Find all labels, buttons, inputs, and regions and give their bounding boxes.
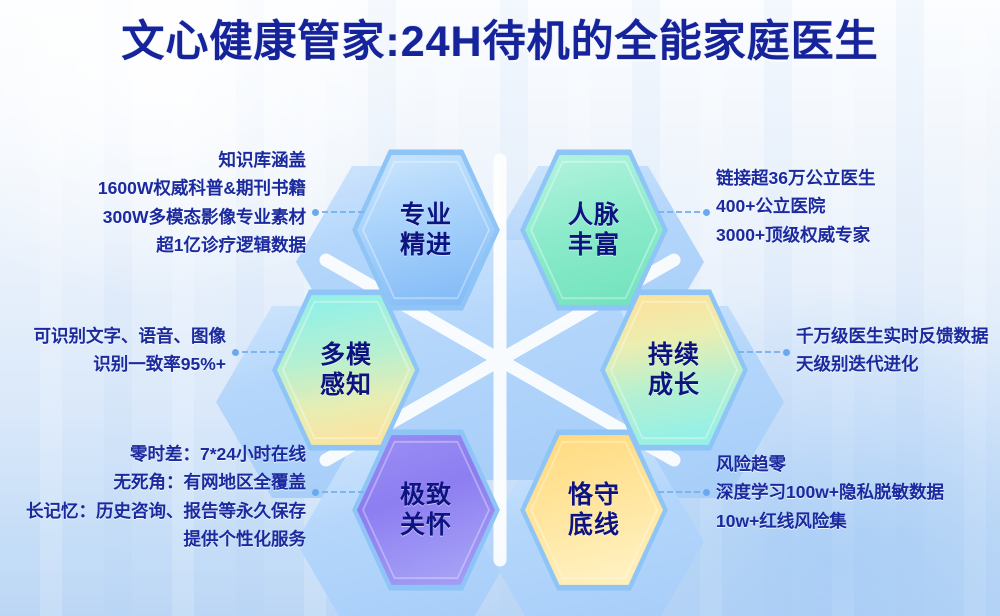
- connector-dashed-line: [322, 211, 364, 213]
- connector-dashed-line: [658, 211, 700, 213]
- caption-multimodal: 可识别文字、语音、图像 识别一致率95%+: [0, 322, 232, 379]
- hexagon-label: 专业 精进: [400, 200, 452, 261]
- connector-dot-icon: [312, 489, 319, 496]
- caption-growth: 千万级医生实时反馈数据 天级别迭代进化: [796, 322, 1000, 379]
- hexagon-label: 极致 关怀: [400, 480, 452, 541]
- connector-professional: [312, 206, 364, 218]
- connector-dot-icon: [232, 349, 239, 356]
- connector-dashed-line: [322, 491, 364, 493]
- hexagon-label: 多模 感知: [320, 340, 372, 401]
- connector-care: [312, 486, 364, 498]
- connector-network: [658, 206, 710, 218]
- slide-canvas: 文心健康管家:24H待机的全能家庭医生: [0, 0, 1000, 616]
- connector-dashed-line: [658, 491, 700, 493]
- hexagon-label: 人脉 丰富: [568, 200, 620, 261]
- connector-dashed-line: [738, 351, 780, 353]
- connector-dot-icon: [703, 489, 710, 496]
- connector-growth: [738, 346, 790, 358]
- hexagon-label: 持续 成长: [648, 340, 700, 401]
- caption-professional: 知识库涵盖 1600W权威科普&期刊书籍 300W多模态影像专业素材 超1亿诊疗…: [0, 146, 312, 259]
- caption-network: 链接超36万公立医生 400+公立医院 3000+顶级权威专家: [716, 164, 1000, 249]
- hexagon-label: 恪守 底线: [568, 480, 620, 541]
- connector-dot-icon: [312, 209, 319, 216]
- connector-dot-icon: [703, 209, 710, 216]
- connector-multimodal: [232, 346, 284, 358]
- connector-baseline: [658, 486, 710, 498]
- caption-baseline: 风险趋零 深度学习100w+隐私脱敏数据 10w+红线风险集: [716, 450, 1000, 535]
- page-title: 文心健康管家:24H待机的全能家庭医生: [0, 18, 1000, 66]
- caption-care: 零时差：7*24小时在线 无死角：有网地区全覆盖 长记忆：历史咨询、报告等永久保…: [0, 440, 312, 553]
- connector-dashed-line: [242, 351, 284, 353]
- connector-dot-icon: [783, 349, 790, 356]
